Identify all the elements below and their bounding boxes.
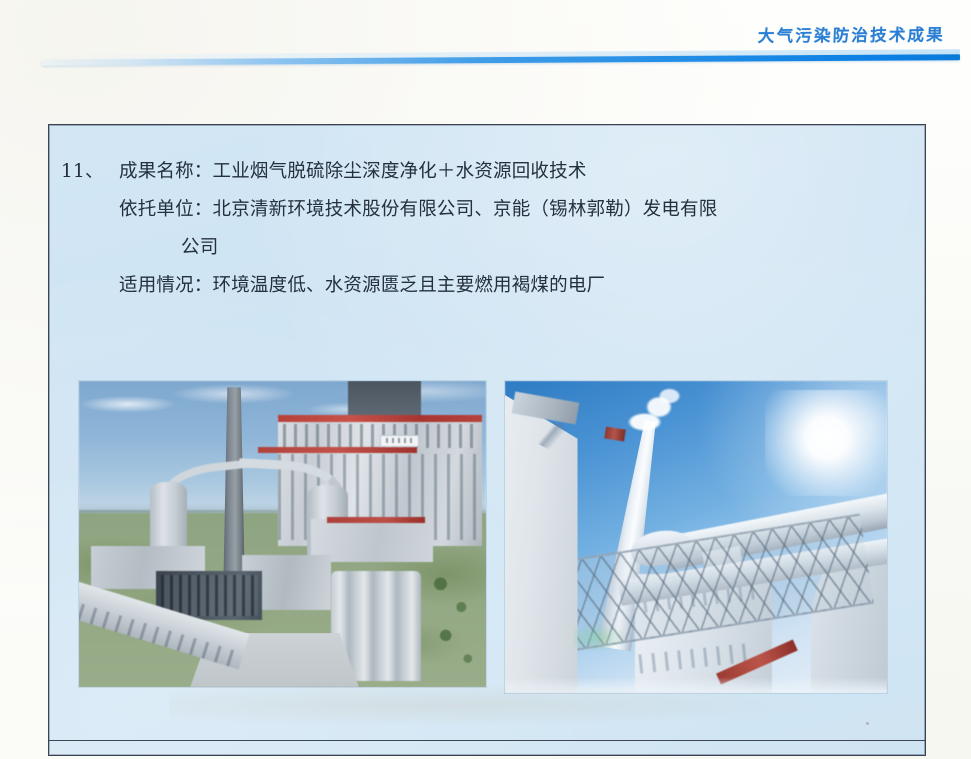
line-supporting-unit: 依托单位：北京清新环境技术股份有限公司、京能（锡林郭勒）发电有限 <box>61 191 911 229</box>
figure-row <box>79 381 899 691</box>
lens-flare <box>574 624 627 652</box>
content-box: 11、成果名称：工业烟气脱硫除尘深度净化＋水资源回收技术 依托单位：北京清新环境… <box>48 124 926 756</box>
white-steam-plume <box>623 387 684 437</box>
line-supporting-unit-cont: 公司 <box>61 229 911 267</box>
label-achievement-name: 成果名称： <box>119 161 213 182</box>
value-supporting-unit-cont: 公司 <box>181 237 218 258</box>
label-supporting-unit: 依托单位： <box>119 199 213 220</box>
photo-bottom-fade <box>505 677 887 693</box>
line-achievement-name: 11、成果名称：工业烟气脱硫除尘深度净化＋水资源回收技术 <box>61 153 911 191</box>
power-plant-aerial-photo <box>79 381 486 687</box>
tree-planting <box>421 558 486 687</box>
red-roof-lower <box>258 447 417 453</box>
item-number: 11、 <box>61 153 119 191</box>
label-applicable-condition: 适用情况： <box>119 275 213 296</box>
auxiliary-red-roof <box>327 517 425 523</box>
desulfurization-absorber-left <box>150 482 187 555</box>
value-achievement-name: 工业烟气脱硫除尘深度净化＋水资源回收技术 <box>213 161 587 182</box>
value-applicable-condition: 环境温度低、水资源匮乏且主要燃用褐煤的电厂 <box>213 275 606 296</box>
value-supporting-unit: 北京清新环境技术股份有限公司、京能（锡林郭勒）发电有限 <box>213 199 718 220</box>
line-applicable-condition: 适用情况：环境温度低、水资源匮乏且主要燃用褐煤的电厂 <box>61 267 911 305</box>
building-signboard <box>380 435 419 447</box>
running-header-title: 大气污染防治技术成果 <box>757 22 949 47</box>
red-roof-upper <box>278 415 482 422</box>
achievement-text-block: 11、成果名称：工业烟气脱硫除尘深度净化＋水资源回收技术 依托单位：北京清新环境… <box>61 153 911 305</box>
sun-disc <box>765 390 887 496</box>
chimney-upward-photo <box>505 381 887 693</box>
scan-speck <box>866 722 869 725</box>
section-divider <box>49 740 925 741</box>
